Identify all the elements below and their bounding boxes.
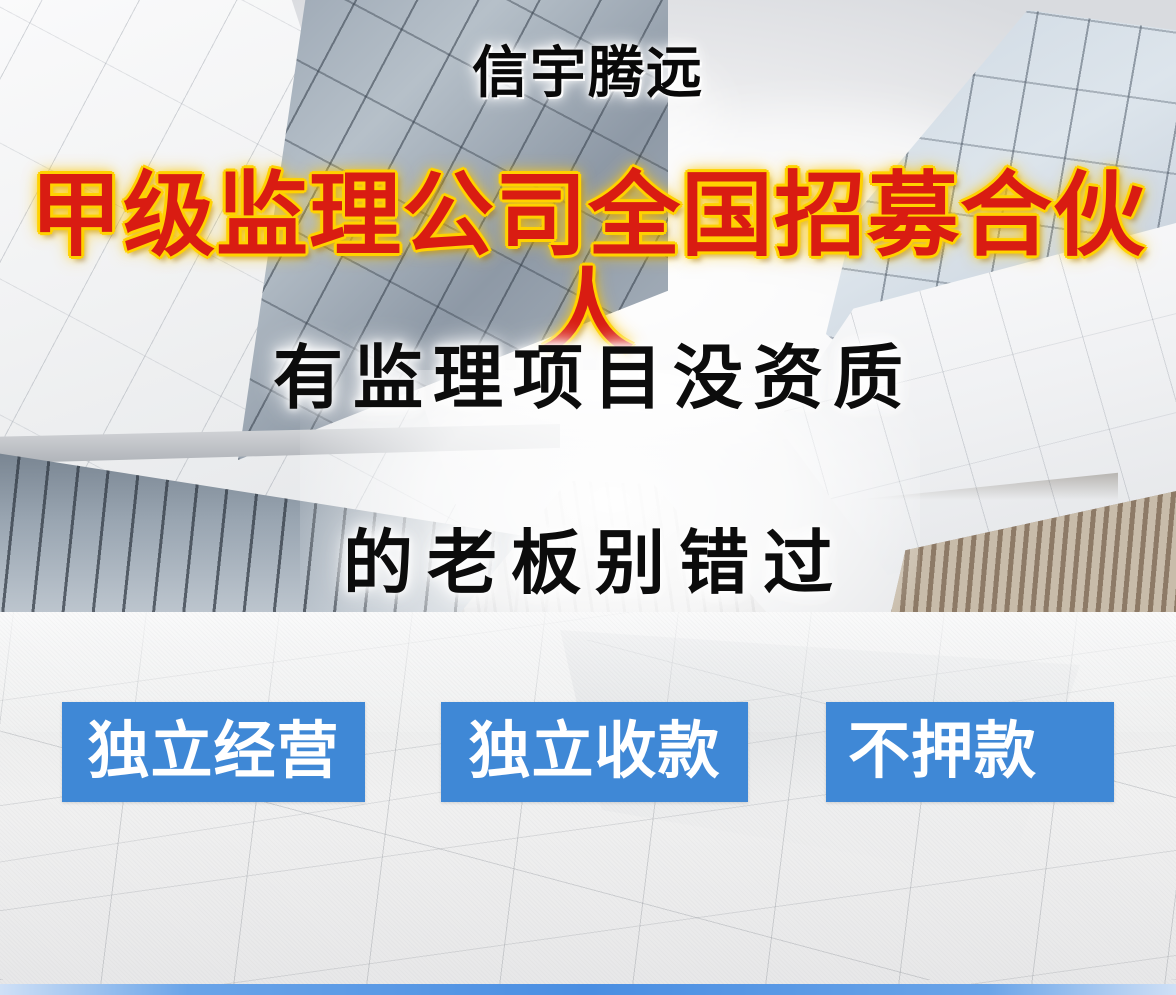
badge-label: 不押款 <box>848 721 1037 783</box>
bottom-accent-strip <box>0 984 1176 995</box>
headline-text: 甲级监理公司全国招募合伙人 <box>0 168 1176 361</box>
brand-name: 信宇腾远 <box>0 46 1176 102</box>
ground-texture <box>0 612 1176 995</box>
feature-badge-independent-operation: 独立经营 <box>62 702 365 802</box>
feature-badge-independent-collection: 独立收款 <box>441 702 748 802</box>
subheadline-line-1: 有监理项目没资质 <box>0 345 1176 415</box>
feature-badge-group: 独立经营 独立收款 不押款 <box>0 702 1176 802</box>
badge-label: 独立收款 <box>468 721 720 783</box>
subheadline-line-2: 的老板别错过 <box>0 530 1176 600</box>
badge-label: 独立经营 <box>87 721 339 783</box>
promo-poster: 信宇腾远 甲级监理公司全国招募合伙人 有监理项目没资质 的老板别错过 独立经营 … <box>0 0 1176 995</box>
feature-badge-no-deposit: 不押款 <box>826 702 1114 802</box>
background-photo <box>0 0 1176 995</box>
